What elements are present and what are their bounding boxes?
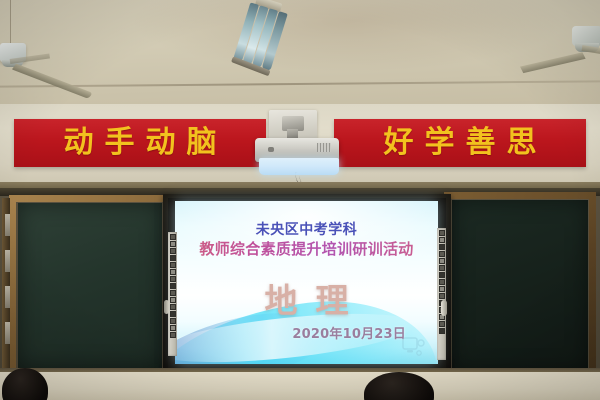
toolbar-icon[interactable] [170,269,176,275]
toolbar-icon[interactable] [170,255,176,261]
toolbar-icon[interactable] [439,293,445,299]
slide-watermark-icon [400,336,426,358]
toolbar-icon[interactable] [170,304,176,310]
blackboard-slide-rail[interactable] [2,198,10,374]
blackboard-left-frame [9,195,171,376]
rail-tick [5,322,10,344]
toolbar-icon[interactable] [439,286,445,292]
whiteboard-handle-left[interactable] [164,300,169,314]
toolbar-icon[interactable] [439,258,445,264]
slide-title-line1: 未央区中考学科 [175,219,438,239]
projector-icon [255,110,341,182]
slide-title-line2: 教师综合素质提升培训研训活动 [175,238,438,259]
toolbar-icon[interactable] [170,311,176,317]
toolbar-icon[interactable] [170,276,176,282]
fan-blade [582,45,600,56]
toolbar-icon[interactable] [439,237,445,243]
slogan-banner-left: 动手动脑 [14,119,266,167]
lower-wall [0,372,600,400]
toolbar-icon[interactable] [439,265,445,271]
toolbar-icon[interactable] [439,321,445,327]
toolbar-icon[interactable] [170,241,176,247]
projection-screen[interactable]: 未央区中考学科 教师综合素质提升培训研训活动 地理 2020年10月23日 [175,201,438,364]
fan-blade [520,52,586,73]
whiteboard-handle-right[interactable] [441,300,447,316]
toolbar-icon[interactable] [170,290,176,296]
toolbar-icon[interactable] [439,230,445,236]
slide-date: 2020年10月23日 [292,323,406,342]
rail-tick [5,250,10,272]
toolbar-icon[interactable] [439,244,445,250]
toolbar-icon[interactable] [170,283,176,289]
toolbar-icon[interactable] [170,325,176,331]
whiteboard-toolbar-right[interactable] [437,228,446,360]
toolbar-icon[interactable] [170,234,176,240]
ceiling-fan-left-icon [0,40,110,90]
rail-tick [5,286,10,308]
classroom-photo: 动手动脑 好学善思 未央区中考学科 教师综合素质提升培训研训活动 [0,0,600,400]
rail-tick [5,214,10,236]
fan-rod [10,0,11,44]
slogan-banner-left-text: 动手动脑 [53,128,228,158]
slogan-banner-right-text: 好学善思 [373,128,548,158]
projector-vent [317,143,331,152]
ceiling-fan-right-icon [520,26,600,72]
toolbar-icon[interactable] [439,251,445,257]
toolbar-icon[interactable] [170,262,176,268]
toolbar-icon[interactable] [170,248,176,254]
slide-subject: 地理 [175,274,438,322]
toolbar-icon[interactable] [170,332,176,338]
blackboard-right-frame [444,192,596,380]
toolbar-icon[interactable] [170,318,176,324]
projector-knob [268,147,274,152]
toolbar-icon[interactable] [439,272,445,278]
toolbar-icon[interactable] [439,328,445,334]
slogan-banner-right: 好学善思 [334,119,586,167]
toolbar-icon[interactable] [439,279,445,285]
whiteboard-toolbar-left[interactable] [168,232,177,356]
toolbar-icon[interactable] [170,297,176,303]
